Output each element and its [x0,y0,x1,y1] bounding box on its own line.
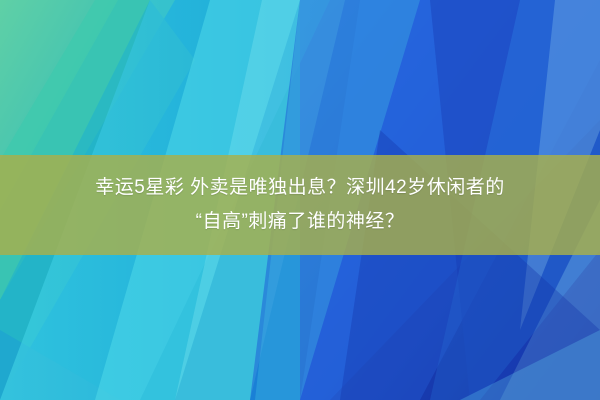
banner-title-line-2: “自高”刺痛了谁的神经？ [15,205,585,239]
banner-image: 幸运5星彩 外卖是唯独出息？深圳42岁休闲者的 “自高”刺痛了谁的神经？ [0,0,600,400]
title-band: 幸运5星彩 外卖是唯独出息？深圳42岁休闲者的 “自高”刺痛了谁的神经？ [0,155,600,255]
banner-title: 幸运5星彩 外卖是唯独出息？深圳42岁休闲者的 “自高”刺痛了谁的神经？ [15,171,585,239]
banner-title-line-1: 幸运5星彩 外卖是唯独出息？深圳42岁休闲者的 [15,171,585,205]
